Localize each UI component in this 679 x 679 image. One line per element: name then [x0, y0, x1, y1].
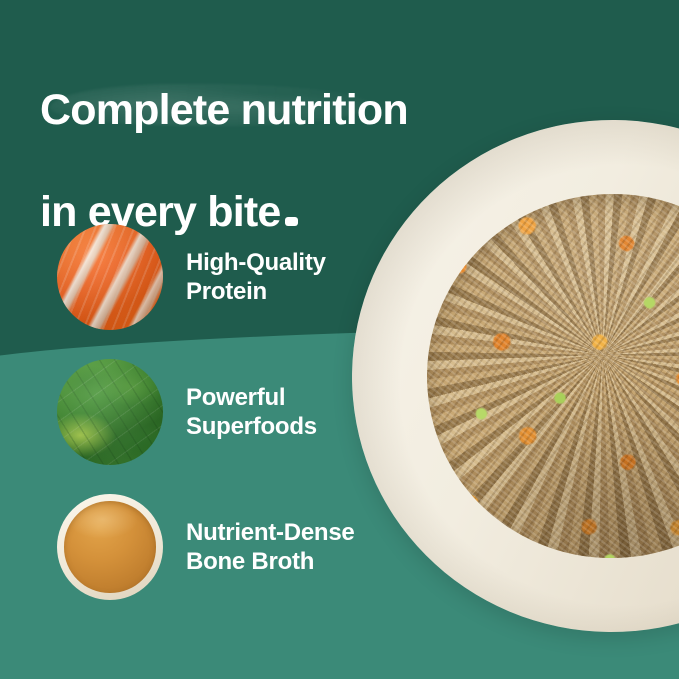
feature-label-bone-broth: Nutrient-Dense Bone Broth: [186, 518, 355, 576]
salmon-fillet-icon: [57, 224, 163, 330]
broth-bowl-art: [57, 494, 163, 600]
feature-item-protein: High-Quality Protein: [57, 224, 355, 330]
feature-list: High-Quality Protein Powerful Superfoods…: [57, 224, 355, 600]
spinach-leaves-art: [57, 359, 163, 465]
feature-label-protein: High-Quality Protein: [186, 248, 326, 306]
feature-item-bone-broth: Nutrient-Dense Bone Broth: [57, 494, 355, 600]
spinach-leaves-icon: [57, 359, 163, 465]
broth-liquid: [64, 501, 155, 592]
feature-item-superfoods: Powerful Superfoods: [57, 359, 355, 465]
headline-line-1: Complete nutrition: [40, 85, 510, 136]
product-feature-banner: Complete nutrition in every bite High-Qu…: [0, 0, 679, 679]
feature-label-superfoods: Powerful Superfoods: [186, 383, 317, 441]
salmon-fillet-art: [57, 224, 163, 330]
bone-broth-bowl-icon: [57, 494, 163, 600]
